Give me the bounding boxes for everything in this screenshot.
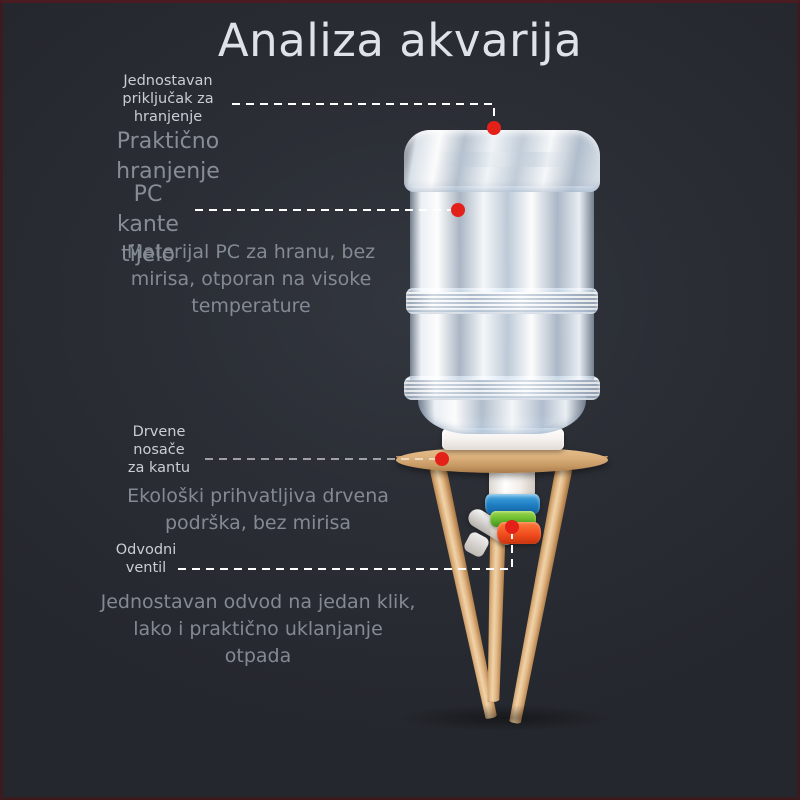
callout-wooden-support-label-text: Drvene nosače za kantu (104, 423, 214, 477)
wooden-table-top (396, 447, 608, 473)
callout-drain-valve-description-text: Jednostavan odvod na jedan klik, lako i … (98, 589, 418, 670)
callout-wooden-support-description: Ekološki prihvatljiva drvena podrška, be… (98, 483, 418, 537)
callout-feeding-port-label: Jednostavan priključak za hranjenje (108, 72, 228, 126)
page-title: Analiza akvarija (0, 14, 800, 67)
callout-wooden-support-description-text: Ekološki prihvatljiva drvena podrška, be… (98, 483, 418, 537)
ground-shadow (400, 705, 610, 731)
bottle-body-upper (410, 186, 594, 292)
callout-pc-body-description: Materijal PC za hranu, bez mirisa, otpor… (106, 239, 396, 320)
callout-feeding-port: Jednostavan priključak za hranjenje (108, 72, 228, 126)
bottle-body-lower (410, 310, 594, 380)
bottle-cap-embossed-text (440, 152, 566, 167)
callout-drain-valve-label: Odvodni ventil (96, 541, 196, 577)
callout-drain-valve-description: Jednostavan odvod na jedan klik, lako i … (98, 589, 418, 670)
callout-feeding-port-headline-text: Praktično hranjenje (100, 127, 236, 187)
valve-ring-orange (497, 522, 541, 544)
product-infographic-poster: Analiza akvarija (0, 0, 800, 800)
callout-wooden-support-label: Drvene nosače za kantu (104, 423, 214, 477)
bottle-shoulder (418, 396, 586, 434)
callout-drain-valve-label-text: Odvodni ventil (96, 541, 196, 577)
callout-pc-body-description-text: Materijal PC za hranu, bez mirisa, otpor… (106, 239, 396, 320)
callout-feeding-port-headline: Praktično hranjenje (100, 127, 236, 187)
